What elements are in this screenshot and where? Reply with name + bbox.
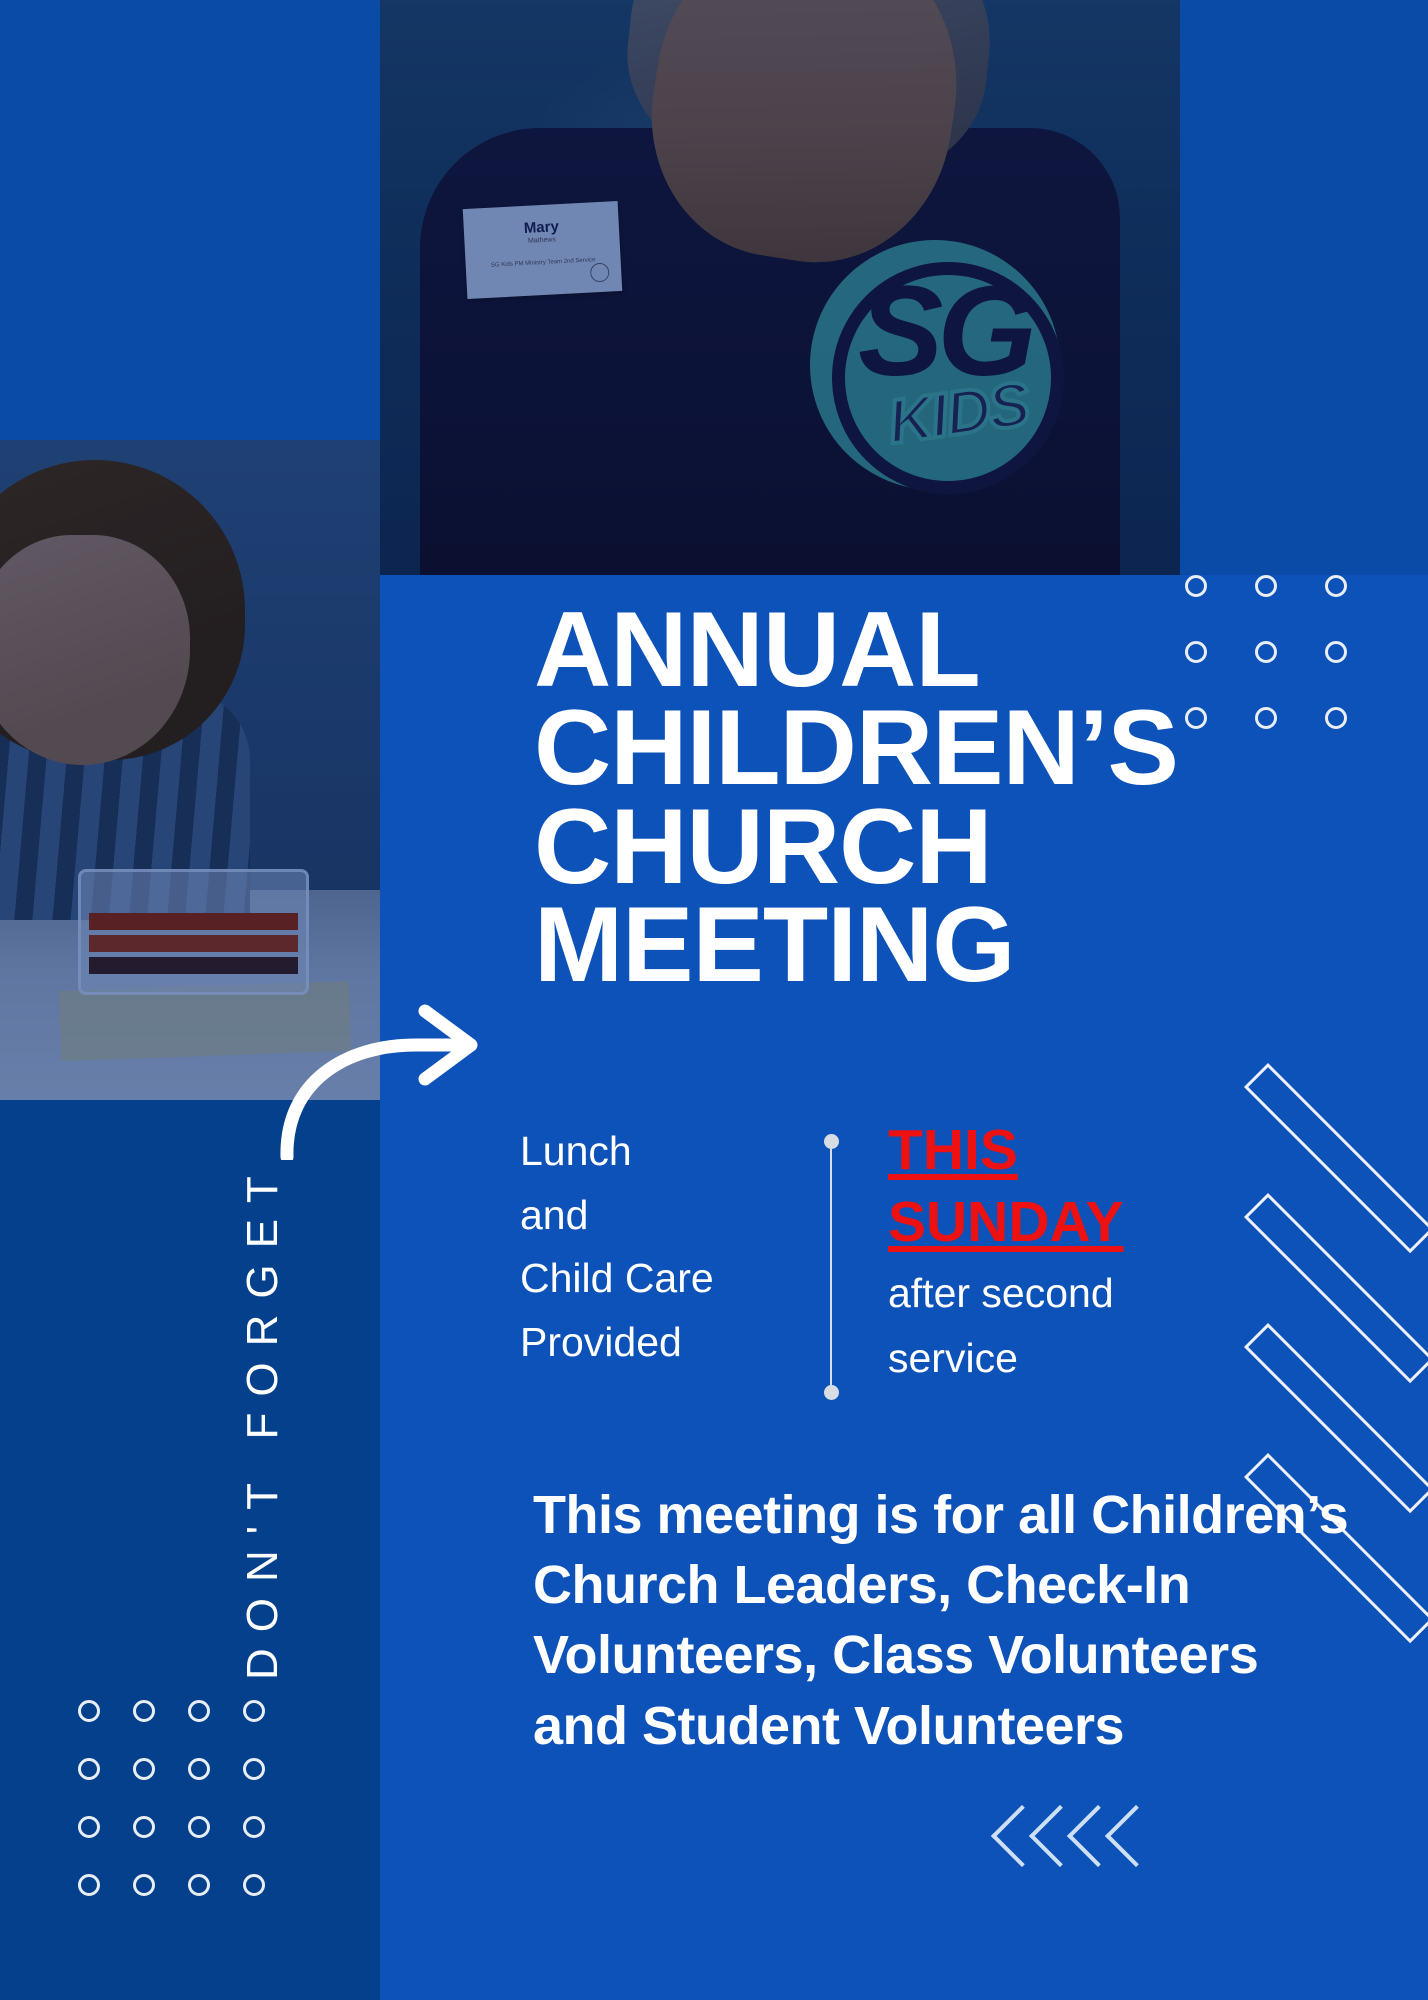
dot-icon <box>133 1700 155 1722</box>
dot-icon <box>243 1874 265 1896</box>
child-shirt <box>0 690 250 920</box>
name-badge-detail: SG Kids PM Ministry Team 2nd Service <box>474 255 613 271</box>
dot-icon <box>1325 575 1347 597</box>
divider-dot-bottom-icon <box>824 1385 839 1400</box>
dot-icon <box>243 1758 265 1780</box>
volunteer-head <box>631 0 979 281</box>
dot-icon <box>78 1874 100 1896</box>
poster-canvas: SG KIDS Mary Mathews SG Kids PM Ministry… <box>0 0 1428 2000</box>
headline-line-2: CHILDREN’S <box>534 698 1254 796</box>
dot-icon <box>188 1758 210 1780</box>
amenity-line-3: Child Care <box>520 1247 810 1311</box>
name-badge: Mary Mathews SG Kids PM Ministry Team 2n… <box>463 201 622 299</box>
diagonal-stripes-decor <box>1268 1055 1428 1515</box>
details-divider <box>827 1134 835 1400</box>
amenity-line-2: and <box>520 1184 810 1248</box>
dot-icon <box>78 1700 100 1722</box>
volunteer-hair <box>616 0 1004 198</box>
dot-icon <box>133 1816 155 1838</box>
dot-icon <box>243 1816 265 1838</box>
when-emphasis-line-1: THIS <box>888 1114 1238 1186</box>
dot-icon <box>243 1700 265 1722</box>
sg-logo-circle <box>810 240 1060 490</box>
chevron-left-icon <box>1105 1805 1167 1867</box>
sg-logo-kids-text: KIDS <box>884 369 1033 459</box>
dot-icon <box>188 1874 210 1896</box>
photo-volunteer-aquarium: SG KIDS Mary Mathews SG Kids PM Ministry… <box>380 0 1180 580</box>
dot-icon <box>188 1816 210 1838</box>
crayon-box <box>78 869 309 995</box>
dot-icon <box>188 1700 210 1722</box>
crayon-row <box>89 913 298 930</box>
amenity-line-4: Provided <box>520 1311 810 1375</box>
dot-icon <box>1255 707 1277 729</box>
dot-icon <box>78 1816 100 1838</box>
when-sub-line-1: after second <box>888 1263 1238 1325</box>
chevron-group-decor <box>1000 1800 1180 1880</box>
dot-icon <box>1325 641 1347 663</box>
divider-line <box>830 1141 832 1393</box>
name-badge-subtitle: Mathews <box>464 233 619 248</box>
dot-icon <box>133 1758 155 1780</box>
name-badge-logo-icon <box>590 263 610 283</box>
dot-icon <box>78 1758 100 1780</box>
dot-icon <box>1255 641 1277 663</box>
sg-logo-ring <box>832 262 1064 494</box>
body-copy: This meeting is for all Children’s Churc… <box>533 1480 1363 1761</box>
headline-line-4: MEETING <box>534 895 1254 993</box>
name-badge-name: Mary <box>463 215 619 240</box>
dot-icon <box>1255 575 1277 597</box>
when-sub-line-2: service <box>888 1328 1238 1390</box>
when-emphasis-line-2: SUNDAY <box>888 1186 1238 1258</box>
crayon-row <box>89 957 298 974</box>
dot-icon <box>133 1874 155 1896</box>
dot-icon <box>1185 575 1207 597</box>
crayon-row <box>89 935 298 952</box>
details-when: THIS SUNDAY after second service <box>888 1114 1238 1390</box>
aquarium-fish <box>535 140 740 265</box>
page-title: ANNUAL CHILDREN’S CHURCH MEETING <box>534 600 1254 994</box>
headline-line-3: CHURCH <box>534 797 1254 895</box>
volunteer-shirt <box>420 128 1120 580</box>
child-face <box>0 535 190 765</box>
headline-line-1: ANNUAL <box>534 600 1254 698</box>
amenity-line-1: Lunch <box>520 1120 810 1184</box>
dot-grid-bottom-left <box>78 1700 298 1932</box>
side-label-dont-forget: DON'T FORGET <box>203 1120 323 1680</box>
child-head <box>0 460 245 760</box>
details-amenities: Lunch and Child Care Provided <box>520 1120 810 1374</box>
dot-icon <box>1325 707 1347 729</box>
sg-logo-text: SG <box>858 268 1031 396</box>
